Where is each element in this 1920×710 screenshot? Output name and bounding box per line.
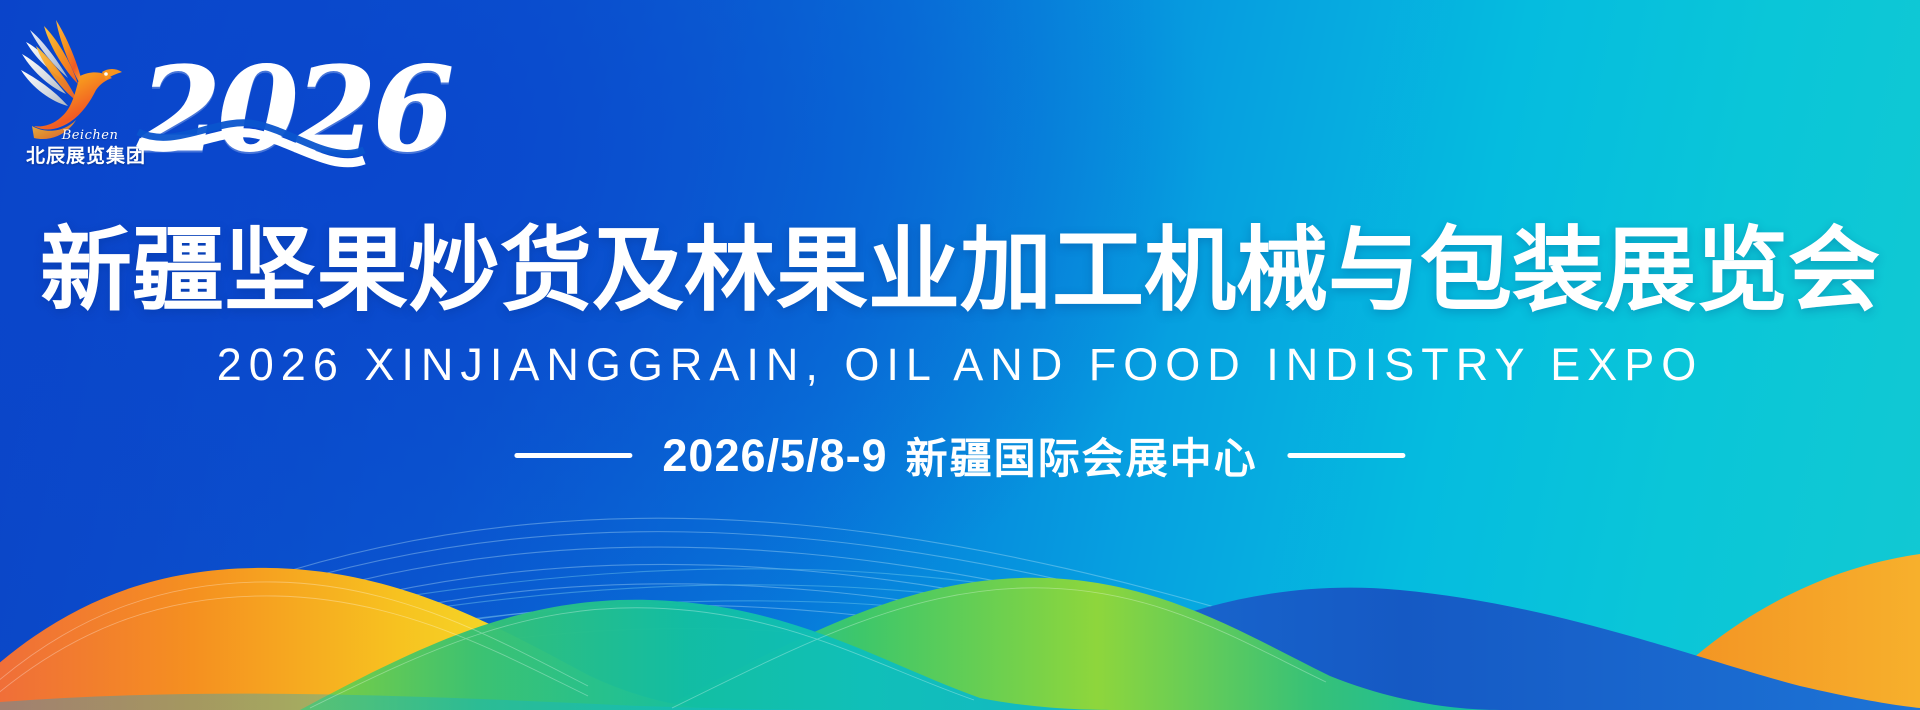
divider-rule-right xyxy=(1288,453,1406,458)
event-meta-row: 2026/5/8-9 新疆国际会展中心 xyxy=(514,425,1405,486)
divider-rule-left xyxy=(514,453,632,458)
logo-script-text: Beichen xyxy=(40,129,140,142)
phoenix-bird-logo-icon xyxy=(16,14,136,144)
brand-logo[interactable]: Beichen 北辰展览集团 xyxy=(16,14,146,179)
year-display: 2026 xyxy=(140,52,451,168)
page-subtitle: 2026 XINJIANGGRAIN, OIL AND FOOD INDISTR… xyxy=(217,342,1704,387)
page-title: 新疆坚果炒货及林果业加工机械与包装展览会 xyxy=(40,222,1880,320)
event-date: 2026/5/8-9 xyxy=(662,430,887,482)
expo-banner: Beichen 北辰展览集团 2026 新疆坚果炒货及林果业加工机械与包装展览会… xyxy=(0,0,1920,710)
logo-company-name: 北辰展览集团 xyxy=(26,147,146,166)
bottom-color-waves-decoration xyxy=(0,450,1920,710)
event-venue: 新疆国际会展中心 xyxy=(906,425,1258,486)
